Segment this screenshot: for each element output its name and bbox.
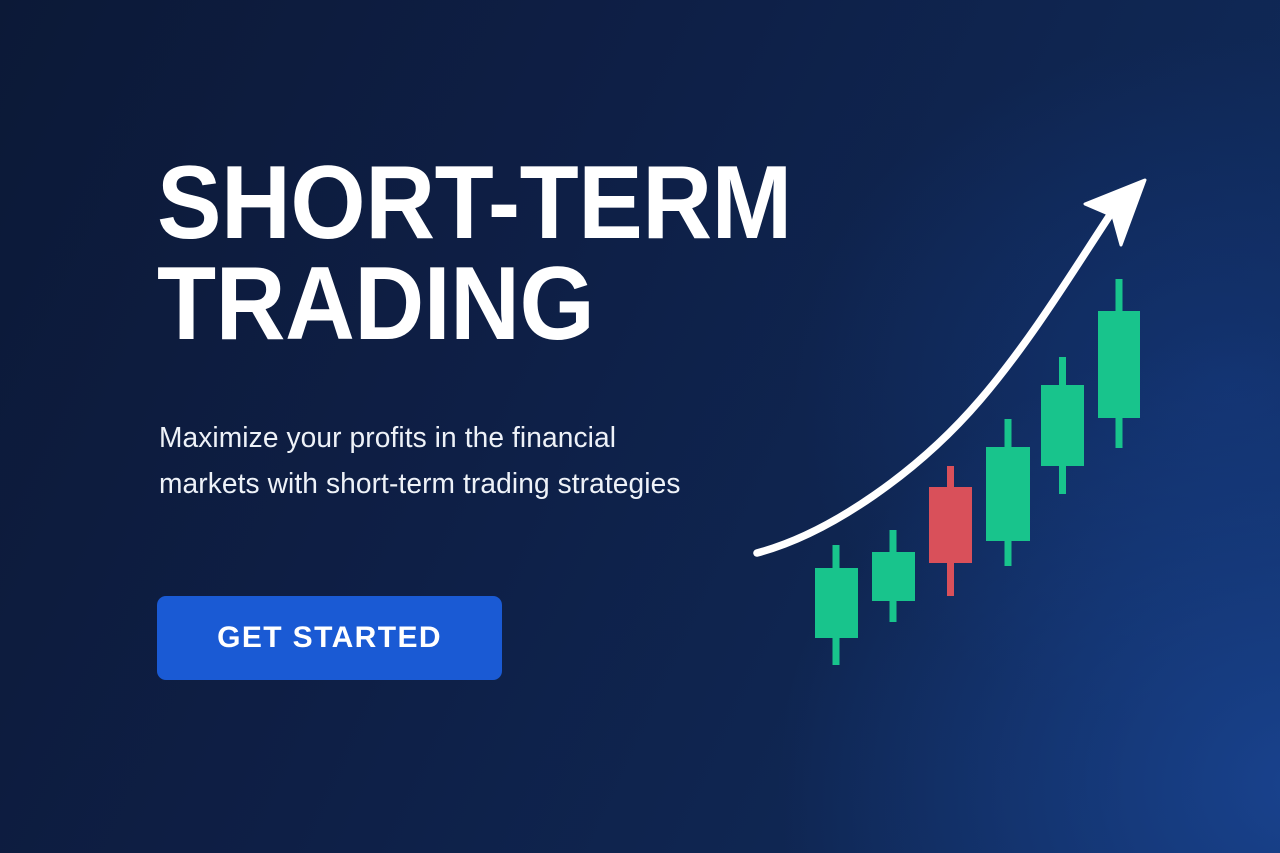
hero-banner: SHORT-TERM TRADING Maximize your profits…: [0, 0, 1280, 853]
hero-subtitle: Maximize your profits in the financial m…: [159, 415, 712, 508]
candlestick-6: [1098, 279, 1140, 448]
candle-body: [1041, 385, 1084, 466]
page-title: SHORT-TERM TRADING: [157, 153, 792, 355]
get-started-button[interactable]: GET STARTED: [157, 596, 502, 680]
candlestick-5: [1041, 357, 1084, 494]
candle-body: [986, 447, 1030, 541]
candle-body: [872, 552, 915, 601]
candlestick-4: [986, 419, 1030, 566]
candle-body: [929, 487, 972, 563]
candlestick-3: [929, 466, 972, 596]
candle-body: [1098, 311, 1140, 418]
candlestick-series: [815, 279, 1140, 665]
candlestick-2: [872, 530, 915, 622]
hero-content: SHORT-TERM TRADING Maximize your profits…: [157, 0, 857, 853]
